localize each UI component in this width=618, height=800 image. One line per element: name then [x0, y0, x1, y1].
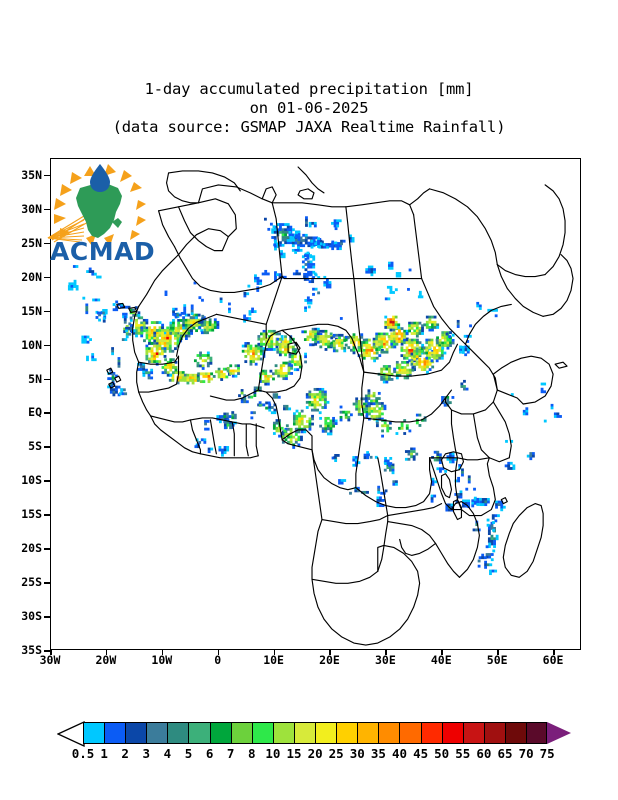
x-axis-label-20W: 20W	[84, 653, 128, 667]
colorbar-cell-7[interactable]	[231, 722, 252, 744]
colorbar-cell-6[interactable]	[210, 722, 231, 744]
y-axis-tick	[44, 277, 50, 279]
colorbar-cell-3[interactable]	[146, 722, 167, 744]
y-axis-tick	[44, 311, 50, 313]
colorbar-cell-0[interactable]	[83, 722, 104, 744]
title-line-3: (data source: GSMAP JAXA Realtime Rainfa…	[0, 118, 618, 137]
x-axis-tick	[218, 650, 220, 655]
x-axis-label-30W: 30W	[28, 653, 72, 667]
x-axis-label-0: 0	[196, 653, 240, 667]
y-axis-label-EQ: EQ	[0, 405, 42, 419]
y-axis-tick	[44, 514, 50, 516]
y-axis-label-20S: 20S	[0, 541, 42, 555]
colorbar-cell-15[interactable]	[399, 722, 420, 744]
y-axis-label-25S: 25S	[0, 575, 42, 589]
colorbar-cell-1[interactable]	[104, 722, 125, 744]
x-axis-label-40E: 40E	[419, 653, 463, 667]
colorbar-cell-11[interactable]	[315, 722, 336, 744]
acmad-logo: ACMAD	[42, 160, 164, 266]
chart-title: 1-day accumulated precipitation [mm] on …	[0, 80, 618, 137]
x-axis-tick	[274, 650, 276, 655]
colorbar-underflow-arrow	[57, 721, 85, 747]
y-axis-tick	[44, 480, 50, 482]
y-axis-tick	[44, 616, 50, 618]
colorbar-cell-10[interactable]	[294, 722, 315, 744]
colorbar-cell-16[interactable]	[421, 722, 442, 744]
x-axis-tick	[553, 650, 555, 655]
colorbar-cell-9[interactable]	[273, 722, 294, 744]
colorbar[interactable]: 0.5123456781015202530354045505560657075	[0, 714, 618, 774]
x-axis-tick	[106, 650, 108, 655]
y-axis-label-15N: 15N	[0, 304, 42, 318]
y-axis-label-10S: 10S	[0, 473, 42, 487]
logo-wordmark: ACMAD	[50, 237, 155, 266]
title-line-2: on 01-06-2025	[0, 99, 618, 118]
y-axis-tick	[44, 582, 50, 584]
y-axis-tick	[44, 345, 50, 347]
colorbar-cell-18[interactable]	[463, 722, 484, 744]
y-axis-label-5S: 5S	[0, 439, 42, 453]
colorbar-cell-4[interactable]	[167, 722, 188, 744]
y-axis-label-30S: 30S	[0, 609, 42, 623]
x-axis-label-10W: 10W	[140, 653, 184, 667]
colorbar-cell-21[interactable]	[526, 722, 547, 744]
colorbar-cell-2[interactable]	[125, 722, 146, 744]
colorbar-overflow-arrow	[547, 722, 571, 744]
x-axis-label-50E: 50E	[475, 653, 519, 667]
x-axis-tick	[497, 650, 499, 655]
y-axis-tick	[44, 548, 50, 550]
colorbar-cell-19[interactable]	[484, 722, 505, 744]
colorbar-tick-labels: 0.5123456781015202530354045505560657075	[0, 746, 618, 766]
y-axis-label-30N: 30N	[0, 202, 42, 216]
y-axis-tick	[44, 412, 50, 414]
colorbar-label-75: 75	[532, 746, 562, 761]
colorbar-cell-14[interactable]	[378, 722, 399, 744]
logo-africa-icon	[76, 184, 122, 238]
colorbar-cell-12[interactable]	[336, 722, 357, 744]
y-axis-label-20N: 20N	[0, 270, 42, 284]
colorbar-cell-8[interactable]	[252, 722, 273, 744]
y-axis-label-15S: 15S	[0, 507, 42, 521]
colorbar-strip[interactable]	[83, 722, 547, 744]
y-axis-label-10N: 10N	[0, 338, 42, 352]
colorbar-cell-17[interactable]	[442, 722, 463, 744]
x-axis-tick	[50, 650, 52, 655]
x-axis-tick	[329, 650, 331, 655]
x-axis-label-20E: 20E	[307, 653, 351, 667]
y-axis-tick	[44, 446, 50, 448]
y-axis-label-5N: 5N	[0, 372, 42, 386]
x-axis-tick	[162, 650, 164, 655]
x-axis-label-60E: 60E	[531, 653, 575, 667]
y-axis-label-25N: 25N	[0, 236, 42, 250]
colorbar-cell-5[interactable]	[188, 722, 209, 744]
x-axis-label-10E: 10E	[252, 653, 296, 667]
title-line-1: 1-day accumulated precipitation [mm]	[0, 80, 618, 99]
colorbar-cell-13[interactable]	[357, 722, 378, 744]
x-axis-tick	[385, 650, 387, 655]
y-axis-label-35N: 35N	[0, 168, 42, 182]
colorbar-cell-20[interactable]	[505, 722, 526, 744]
y-axis-tick	[44, 379, 50, 381]
x-axis-label-30E: 30E	[363, 653, 407, 667]
x-axis-tick	[441, 650, 443, 655]
